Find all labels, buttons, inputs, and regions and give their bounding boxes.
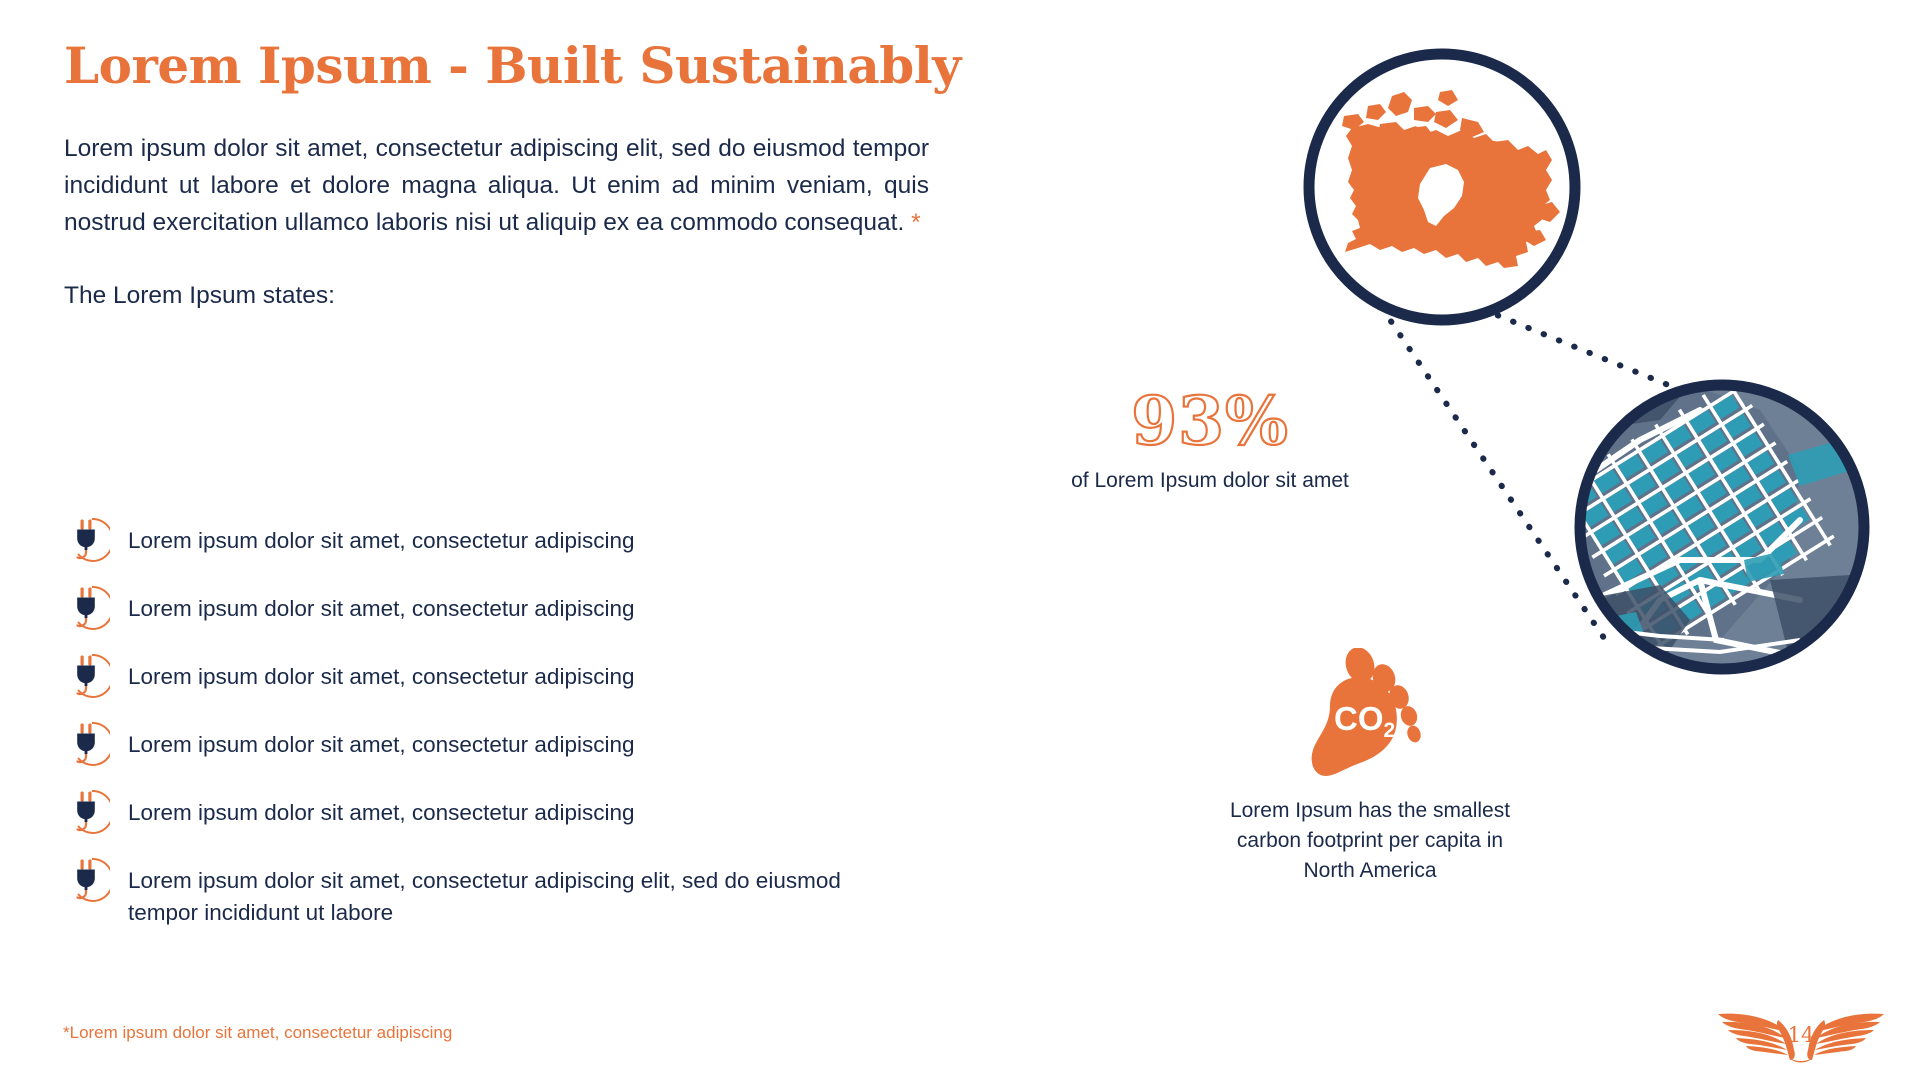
carbon-footprint-icon: CO2 <box>1308 648 1433 783</box>
city-detail-map-circle <box>1550 376 1864 669</box>
vancouver-street-map <box>1550 376 1864 669</box>
list-item-label: Lorem ipsum dolor sit amet, consectetur … <box>128 856 888 929</box>
carbon-footprint-block: CO2 Lorem Ipsum has the smallest carbon … <box>1190 648 1550 885</box>
stat-caption: of Lorem Ipsum dolor sit amet <box>1000 467 1420 495</box>
list-item-label: Lorem ipsum dolor sit amet, consectetur … <box>128 720 888 761</box>
list-item: Lorem ipsum dolor sit amet, consectetur … <box>62 516 892 563</box>
list-item: Lorem ipsum dolor sit amet, consectetur … <box>62 652 892 699</box>
page-title: Lorem Ipsum - Built Sustainably <box>64 38 934 93</box>
intro-paragraph: Lorem ipsum dolor sit amet, consectetur … <box>64 130 929 242</box>
intro-paragraph-text: Lorem ipsum dolor sit amet, consectetur … <box>64 135 929 236</box>
canada-map <box>1342 90 1560 268</box>
winged-logo: 14 <box>1716 1002 1886 1064</box>
canada-map-circle <box>1309 54 1575 320</box>
carbon-footprint-caption: Lorem Ipsum has the smallest carbon foot… <box>1190 796 1550 885</box>
list-item-label: Lorem ipsum dolor sit amet, consectetur … <box>128 652 888 693</box>
list-item: Lorem ipsum dolor sit amet, consectetur … <box>62 856 892 929</box>
plug-icon <box>62 649 110 699</box>
list-item-label: Lorem ipsum dolor sit amet, consectetur … <box>128 788 888 829</box>
plug-icon <box>62 513 110 563</box>
list-item: Lorem ipsum dolor sit amet, consectetur … <box>62 584 892 631</box>
caption-line-3: North America <box>1190 856 1550 886</box>
plug-icon <box>62 853 110 903</box>
left-content-column: Lorem Ipsum - Built Sustainably Lorem ip… <box>64 38 934 314</box>
plug-icon <box>62 785 110 835</box>
stat-value: 93% <box>1000 388 1420 454</box>
list-item: Lorem ipsum dolor sit amet, consectetur … <box>62 720 892 767</box>
list-item: Lorem ipsum dolor sit amet, consectetur … <box>62 788 892 835</box>
caption-line-1: Lorem Ipsum has the smallest <box>1190 796 1550 826</box>
statistic-block: 93% of Lorem Ipsum dolor sit amet <box>1000 388 1420 495</box>
feature-bullet-list: Lorem ipsum dolor sit amet, consectetur … <box>62 516 892 929</box>
list-item-label: Lorem ipsum dolor sit amet, consectetur … <box>128 516 888 557</box>
states-subheading: The Lorem Ipsum states: <box>64 278 934 315</box>
page-number: 14 <box>1716 1023 1886 1047</box>
footnote: *Lorem ipsum dolor sit amet, consectetur… <box>63 1023 452 1043</box>
plug-icon <box>62 717 110 767</box>
plug-icon <box>62 581 110 631</box>
slide-root: Lorem Ipsum - Built Sustainably Lorem ip… <box>0 0 1920 1080</box>
list-item-label: Lorem ipsum dolor sit amet, consectetur … <box>128 584 888 625</box>
footnote-asterisk-marker: * <box>911 209 921 236</box>
caption-line-2: carbon footprint per capita in <box>1190 826 1550 856</box>
